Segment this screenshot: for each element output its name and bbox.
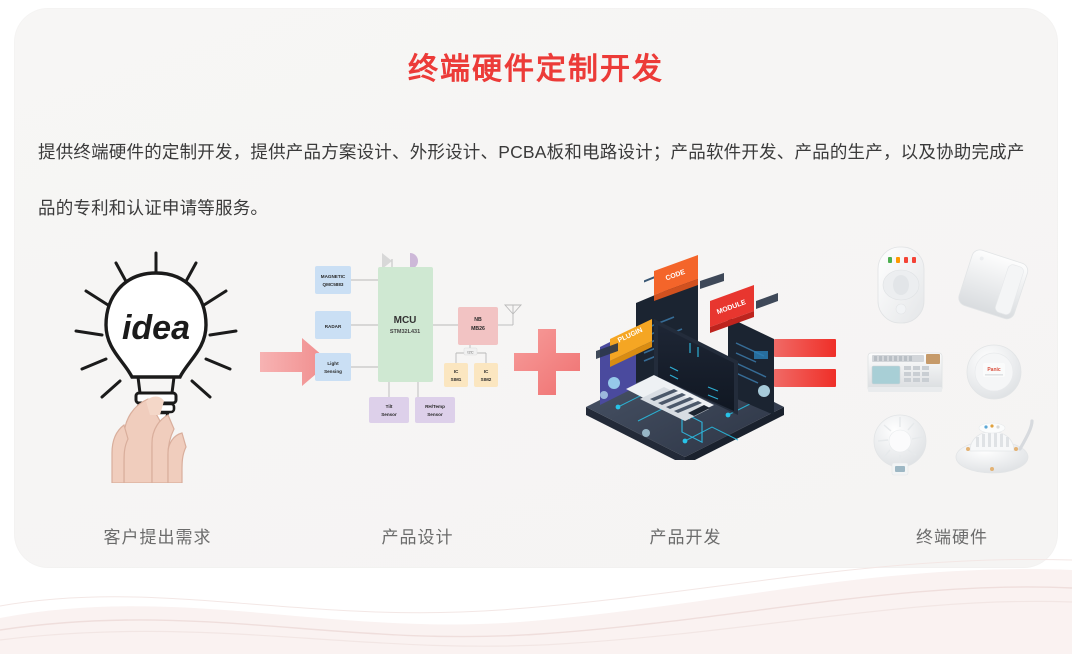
svg-text:Tilt: Tilt xyxy=(386,404,393,409)
svg-text:QMC5883: QMC5883 xyxy=(323,282,344,287)
svg-text:SIM1: SIM1 xyxy=(451,377,462,382)
sim-block-1: IC SIM1 xyxy=(444,363,468,387)
laptop-development-illustration: PLUGIN CODE MODULE xyxy=(578,255,793,460)
page-title: 终端硬件定制开发 xyxy=(0,44,1072,88)
mcu-part: STM32L431 xyxy=(390,329,420,335)
stage-design-art: LED MCU STM32L431 MAGNETIC QMC5883 RADAR xyxy=(310,235,525,510)
process-flow: idea 客户提出需求 xyxy=(20,235,1052,555)
idea-word: idea xyxy=(122,309,190,347)
svg-text:Sensor: Sensor xyxy=(427,412,443,417)
page-description: 提供终端硬件的定制开发，提供产品方案设计、外形设计、PCBA板和电路设计；产品软… xyxy=(38,124,1036,236)
equals-icon xyxy=(772,335,838,391)
block-diagram: LED MCU STM32L431 MAGNETIC QMC5883 RADAR xyxy=(310,247,525,442)
svg-text:SIM2: SIM2 xyxy=(481,377,492,382)
stage-design: LED MCU STM32L431 MAGNETIC QMC5883 RADAR xyxy=(310,235,525,555)
sensor-block-rhtemp: RH/Temp Sensor xyxy=(415,397,455,423)
led-indicator-icon-2 xyxy=(410,253,418,269)
svg-text:RH/Temp: RH/Temp xyxy=(425,404,445,409)
product-gas-detector xyxy=(878,247,924,323)
plus-icon xyxy=(512,327,582,397)
stage-hardware: Panic xyxy=(852,235,1052,555)
nb-module-block: NB MB26 xyxy=(458,307,498,345)
input-block-magnetic: MAGNETIC QMC5883 xyxy=(315,266,351,294)
svg-text:NB: NB xyxy=(474,317,482,323)
product-vent-sensor xyxy=(874,415,926,475)
svg-text:IC: IC xyxy=(484,369,489,374)
svg-text:Sensor: Sensor xyxy=(381,412,397,417)
product-dome-gateway xyxy=(956,421,1032,473)
stage-development: PLUGIN CODE MODULE xyxy=(578,235,793,555)
stage-label-development: 产品开发 xyxy=(578,523,793,548)
stage-label-hardware: 终端硬件 xyxy=(852,523,1052,548)
stage-label-requirement: 客户提出需求 xyxy=(60,523,255,548)
input-block-light-sensing: Light Sensing xyxy=(315,353,351,381)
svg-text:Sensing: Sensing xyxy=(324,369,342,374)
svg-text:IC: IC xyxy=(454,369,459,374)
stage-requirement: idea 客户提出需求 xyxy=(60,235,255,555)
led-indicator-icon xyxy=(382,253,392,269)
product-door-sensor xyxy=(957,248,1030,321)
input-block-radar: RADAR xyxy=(315,311,351,339)
product-din-controller xyxy=(868,353,942,392)
svg-text:MAGNETIC: MAGNETIC xyxy=(321,274,346,279)
bus-label: I2C xyxy=(467,349,473,354)
stage-requirement-art: idea xyxy=(60,235,255,510)
product-photo-grid: Panic xyxy=(852,235,1052,495)
slide-root: 终端硬件定制开发 提供终端硬件的定制开发，提供产品方案设计、外形设计、PCBA板… xyxy=(0,0,1072,654)
idea-bulb-icon: idea xyxy=(68,247,244,483)
alarm-brand-text: Panic xyxy=(987,367,1001,373)
product-round-alarm: Panic xyxy=(967,345,1021,399)
svg-text:MB26: MB26 xyxy=(471,326,485,332)
mcu-name: MCU xyxy=(394,315,417,326)
stage-hardware-art: Panic xyxy=(852,235,1052,510)
sensor-block-tilt: Tilt Sensor xyxy=(369,397,409,423)
svg-text:RADAR: RADAR xyxy=(325,324,342,329)
sim-block-2: IC SIM2 xyxy=(474,363,498,387)
stage-development-art: PLUGIN CODE MODULE xyxy=(578,235,793,510)
stage-label-design: 产品设计 xyxy=(310,523,525,548)
svg-text:Light: Light xyxy=(327,361,339,366)
